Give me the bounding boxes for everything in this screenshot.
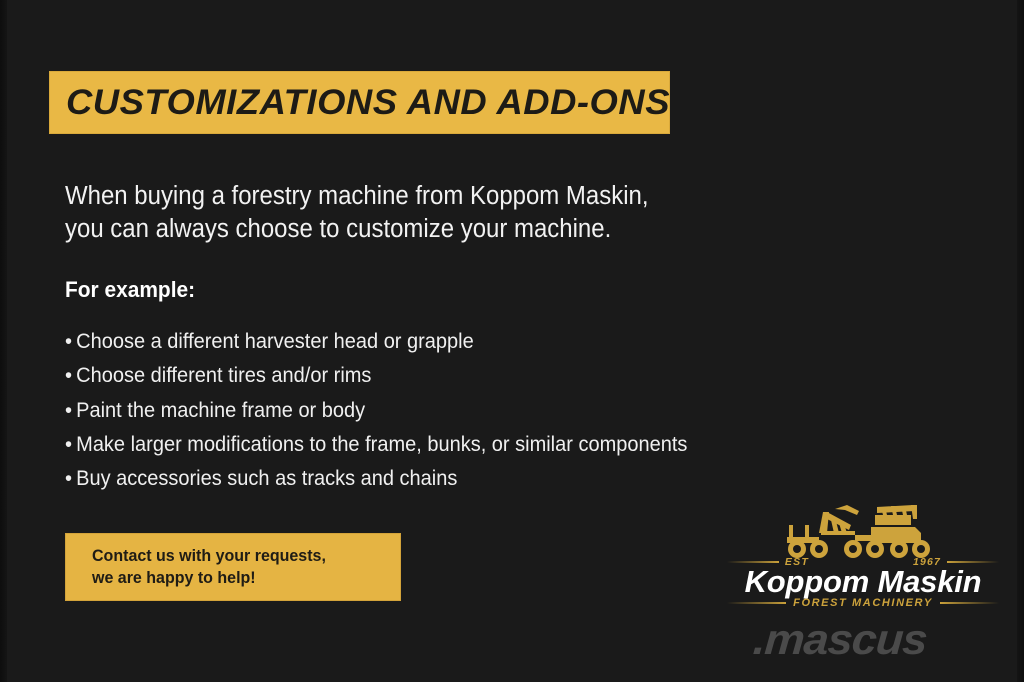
list-item-label: Buy accessories such as tracks and chain… [76,466,457,490]
bullet-marker-icon: • [65,393,76,427]
koppom-maskin-logo: EST 1967 Koppom Maskin FOREST MACHINERY [727,503,999,606]
forestry-machine-icon [775,503,955,559]
logo-rule-right [947,561,999,563]
list-item: •Make larger modifications to the frame,… [65,427,809,461]
mascus-watermark: .mascus [751,616,928,665]
for-example-label: For example: [65,277,195,303]
contact-line-1: Contact us with your requests, [92,545,392,567]
left-edge-band [0,0,7,682]
bullet-marker-icon: • [65,427,76,461]
customization-options-list: •Choose a different harvester head or gr… [65,324,865,495]
page-title: CUSTOMIZATIONS AND ADD-ONS [66,83,670,123]
list-item-label: Choose a different harvester head or gra… [76,329,474,353]
list-item-label: Choose different tires and/or rims [76,363,371,387]
logo-rule-left [727,561,779,563]
right-edge-band [1017,0,1024,682]
list-item: •Choose a different harvester head or gr… [65,324,809,358]
bullet-marker-icon: • [65,324,76,358]
logo-tagline-rule-left [727,602,786,604]
logo-brand-name: Koppom Maskin [727,565,999,598]
logo-tagline-rule-right [940,602,999,604]
intro-line-1: When buying a forestry machine from Kopp… [65,180,779,213]
intro-line-2: you can always choose to customize your … [65,213,779,246]
list-item-label: Make larger modifications to the frame, … [76,432,687,456]
contact-line-2: we are happy to help! [92,567,392,589]
intro-paragraph: When buying a forestry machine from Kopp… [65,180,779,246]
title-banner: CUSTOMIZATIONS AND ADD-ONS [49,71,670,134]
logo-tagline: FOREST MACHINERY [793,597,933,609]
slide-canvas: CUSTOMIZATIONS AND ADD-ONS When buying a… [0,0,1024,682]
logo-tagline-row: FOREST MACHINERY [727,597,999,609]
bullet-marker-icon: • [65,461,76,495]
list-item: •Paint the machine frame or body [65,393,809,427]
list-item: •Buy accessories such as tracks and chai… [65,461,809,495]
contact-cta-box[interactable]: Contact us with your requests, we are ha… [65,533,401,601]
bullet-marker-icon: • [65,358,76,392]
list-item: •Choose different tires and/or rims [65,358,809,392]
list-item-label: Paint the machine frame or body [76,398,365,422]
